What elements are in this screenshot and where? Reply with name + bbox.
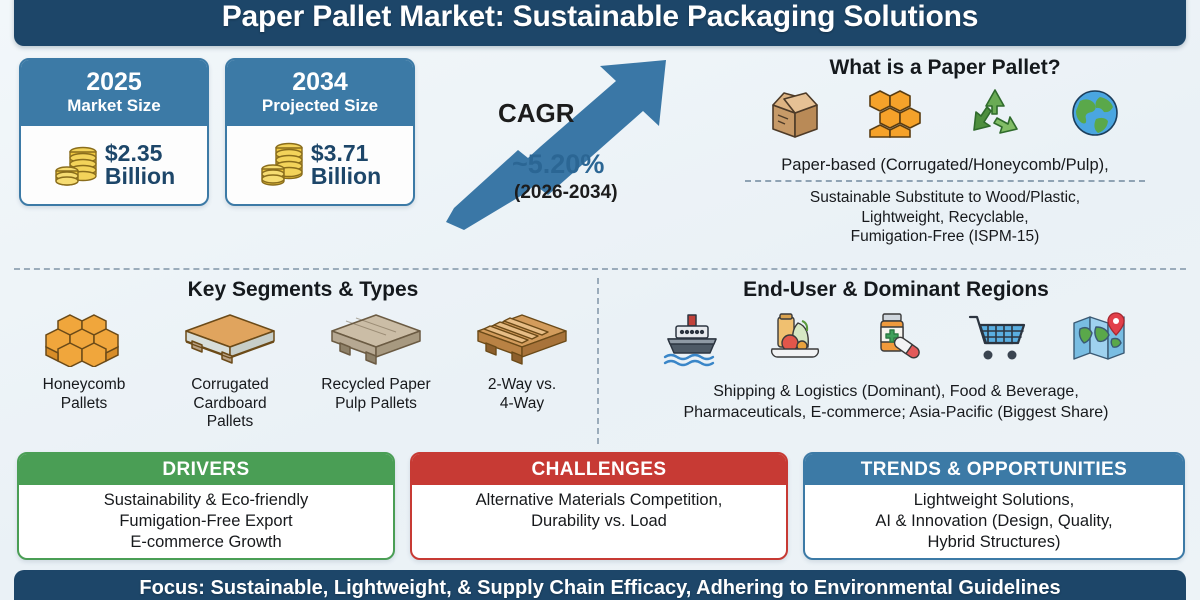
key-segments-heading: Key Segments & Types bbox=[14, 278, 592, 302]
what-is-paper-pallet-section: What is a Paper Pallet? bbox=[700, 56, 1190, 247]
page-title: Paper Pallet Market: Sustainable Packagi… bbox=[222, 0, 979, 34]
segment-item: Recycled Paper Pulp Pallets bbox=[314, 310, 438, 432]
coins-icon bbox=[53, 140, 99, 190]
stat-card-2025: 2025 Market Size bbox=[19, 58, 209, 206]
recycle-icon bbox=[966, 85, 1024, 146]
world-map-pin-icon bbox=[1068, 309, 1132, 374]
top-row: 2025 Market Size bbox=[0, 54, 1200, 260]
stat-card-2034: 2034 Projected Size bbox=[225, 58, 415, 206]
cagr-range: (2026-2034) bbox=[514, 182, 618, 204]
pulp-pallet-icon bbox=[314, 310, 438, 368]
end-user-text: Shipping & Logistics (Dominant), Food & … bbox=[606, 382, 1186, 424]
footer-bar: Focus: Sustainable, Lightweight, & Suppl… bbox=[14, 570, 1186, 600]
panel-trends-opportunities: TRENDS & OPPORTUNITIES Lightweight Solut… bbox=[803, 452, 1185, 560]
cagr-label: CAGR bbox=[498, 98, 575, 129]
pharmaceutical-icon bbox=[864, 309, 928, 374]
corrugated-pallet-icon bbox=[168, 310, 292, 368]
segment-caption: Recycled Paper Pulp Pallets bbox=[314, 376, 438, 413]
end-user-regions-section: End-User & Dominant Regions bbox=[606, 278, 1186, 448]
stat-year: 2025 bbox=[86, 70, 142, 96]
end-user-heading: End-User & Dominant Regions bbox=[606, 278, 1186, 302]
stat-value-unit: Billion bbox=[105, 163, 175, 189]
shopping-cart-icon bbox=[966, 309, 1030, 374]
panel-body: Lightweight Solutions, AI & Innovation (… bbox=[805, 485, 1183, 553]
ship-icon bbox=[660, 309, 724, 374]
segment-caption: Corrugated Cardboard Pallets bbox=[168, 376, 292, 432]
panel-body: Sustainability & Eco-friendly Fumigation… bbox=[19, 485, 393, 553]
bottom-panels: DRIVERS Sustainability & Eco-friendly Fu… bbox=[0, 452, 1200, 564]
end-user-icon-row bbox=[606, 308, 1186, 374]
what-is-icon-row bbox=[700, 84, 1190, 146]
segment-item: 2-Way vs. 4-Way bbox=[460, 310, 584, 432]
what-is-line-2: Sustainable Substitute to Wood/Plastic, … bbox=[700, 188, 1190, 247]
stat-value-amount: $3.71 bbox=[311, 140, 369, 166]
coins-icon bbox=[259, 140, 305, 190]
cardboard-box-icon bbox=[766, 85, 824, 146]
slatted-pallet-icon bbox=[460, 310, 584, 368]
key-segments-section: Key Segments & Types bbox=[14, 278, 592, 448]
stat-value-unit: Billion bbox=[311, 163, 381, 189]
infographic-canvas: Paper Pallet Market: Sustainable Packagi… bbox=[0, 0, 1200, 600]
segment-item: Honeycomb Pallets bbox=[22, 310, 146, 432]
stat-value: $2.35 Billion bbox=[105, 142, 175, 189]
food-icon bbox=[762, 309, 826, 374]
panel-body: Alternative Materials Competition, Durab… bbox=[412, 485, 786, 532]
stat-year: 2034 bbox=[292, 70, 348, 96]
honeycomb-pallet-icon bbox=[22, 310, 146, 368]
footer-text: Focus: Sustainable, Lightweight, & Suppl… bbox=[139, 577, 1060, 600]
stat-card-body: $3.71 Billion bbox=[227, 126, 413, 204]
dashed-divider-horizontal bbox=[14, 268, 1186, 270]
panel-challenges: CHALLENGES Alternative Materials Competi… bbox=[410, 452, 788, 560]
what-is-heading: What is a Paper Pallet? bbox=[700, 56, 1190, 80]
stat-value-amount: $2.35 bbox=[105, 140, 163, 166]
panel-title: CHALLENGES bbox=[412, 454, 786, 485]
stat-card-header: 2025 Market Size bbox=[21, 60, 207, 126]
panel-title: TRENDS & OPPORTUNITIES bbox=[805, 454, 1183, 485]
panel-drivers: DRIVERS Sustainability & Eco-friendly Fu… bbox=[17, 452, 395, 560]
stat-label: Market Size bbox=[67, 96, 161, 116]
stat-value: $3.71 Billion bbox=[311, 142, 381, 189]
cagr-block: CAGR ~5.20% (2026-2034) bbox=[440, 54, 690, 234]
what-is-line-1: Paper-based (Corrugated/Honeycomb/Pulp), bbox=[700, 156, 1190, 175]
honeycomb-icon bbox=[866, 85, 924, 146]
cagr-value: ~5.20% bbox=[512, 149, 604, 180]
dashed-divider-vertical bbox=[597, 278, 599, 444]
segment-caption: 2-Way vs. 4-Way bbox=[460, 376, 584, 413]
dashed-divider-inline bbox=[745, 180, 1145, 182]
globe-icon bbox=[1066, 85, 1124, 146]
key-segments-row: Honeycomb Pallets Cor bbox=[14, 310, 592, 432]
stat-label: Projected Size bbox=[262, 96, 378, 116]
page-title-bar: Paper Pallet Market: Sustainable Packagi… bbox=[14, 0, 1186, 46]
stat-card-header: 2034 Projected Size bbox=[227, 60, 413, 126]
panel-title: DRIVERS bbox=[19, 454, 393, 485]
stat-card-body: $2.35 Billion bbox=[21, 126, 207, 204]
segment-caption: Honeycomb Pallets bbox=[22, 376, 146, 413]
segment-item: Corrugated Cardboard Pallets bbox=[168, 310, 292, 432]
